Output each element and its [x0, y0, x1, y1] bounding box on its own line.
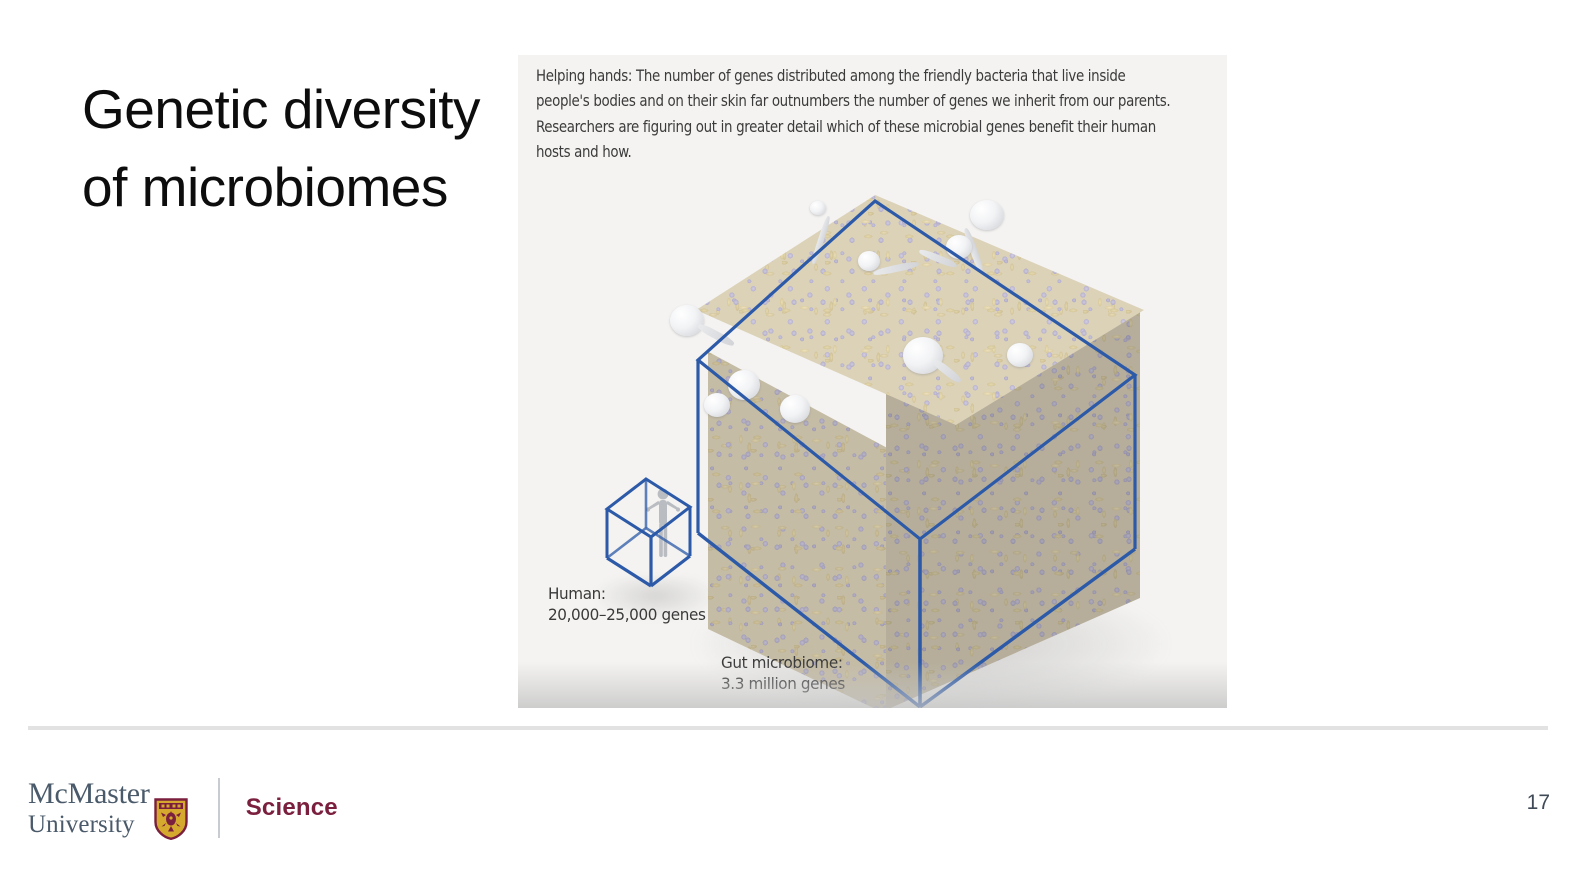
mcmaster-logo: McMaster University [28, 779, 188, 837]
mcmaster-crest-icon [154, 798, 188, 840]
page-title: Genetic diversity of microbiomes [82, 70, 482, 226]
mcmaster-wordmark-line1: McMaster [28, 779, 150, 809]
footer-branding: McMaster University Science [28, 778, 338, 838]
faculty-name: Science [246, 794, 338, 822]
footer-divider [28, 726, 1548, 730]
human-gene-label: Human: 20,000–25,000 genes [548, 583, 705, 626]
page-number: 17 [1527, 791, 1550, 815]
microbiome-illustration: Human: 20,000–25,000 genes Gut microbiom… [518, 55, 1227, 708]
figure-panel: Helping hands: The number of genes distr… [518, 55, 1227, 708]
mcmaster-wordmark-line2: University [28, 812, 150, 837]
mcmaster-wordmark: McMaster University [28, 779, 150, 837]
branding-divider [218, 778, 220, 838]
gut-microbiome-gene-label: Gut microbiome: 3.3 million genes [721, 652, 845, 695]
